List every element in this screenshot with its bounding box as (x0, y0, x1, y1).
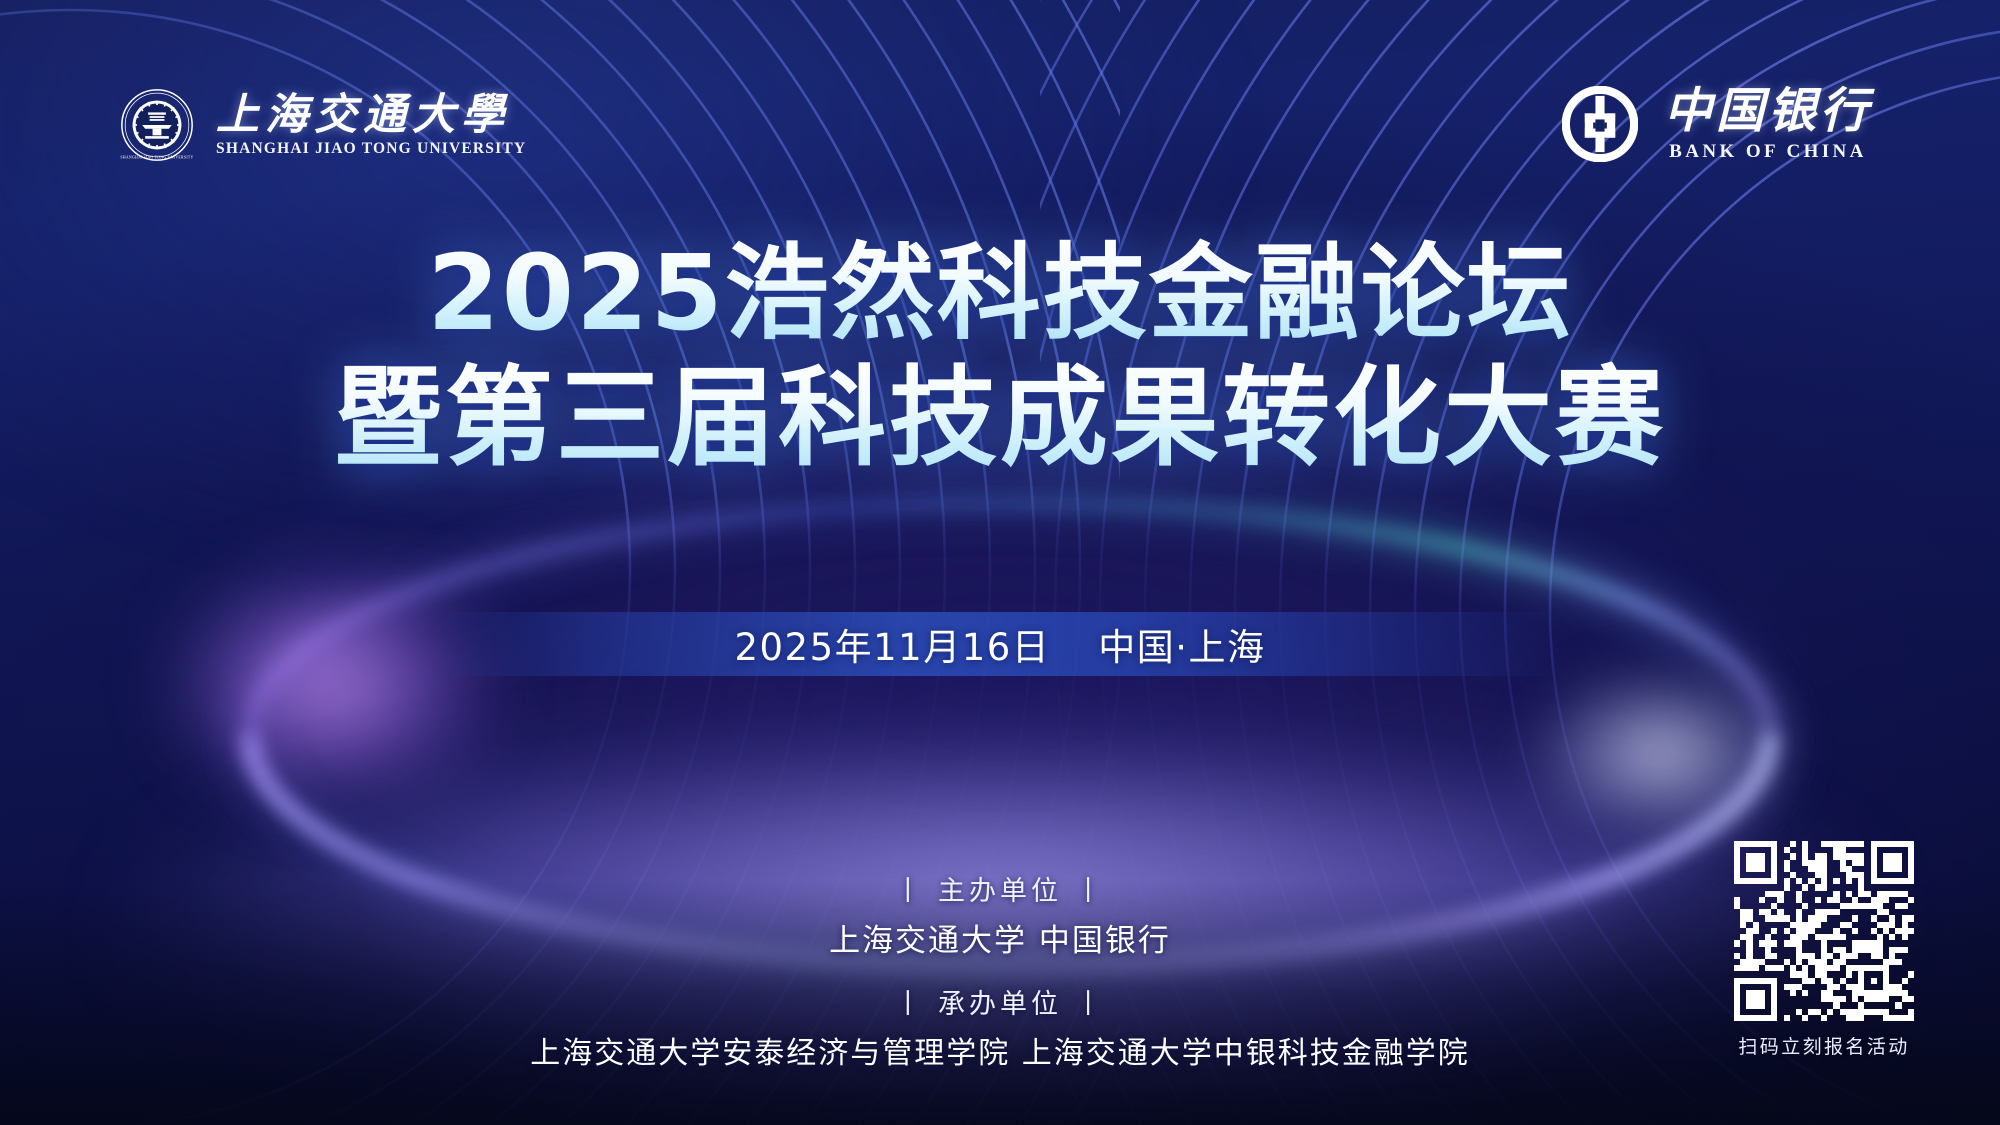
title-line-1: 2025浩然科技金融论坛 (0, 232, 2000, 355)
qr-caption: 扫码立刻报名活动 (1738, 1032, 1909, 1059)
sjtu-cn-name: 上海交通大學 (216, 94, 526, 137)
poster-title: 2025浩然科技金融论坛 暨第三届科技成果转化大赛 (0, 232, 2000, 482)
registration-qr-block[interactable]: 扫码立刻报名活动 (1734, 841, 1914, 1059)
boc-en-name: BANK OF CHINA (1669, 142, 1867, 161)
organizers-block: 丨 主办单位 丨 上海交通大学 中国银行 丨 承办单位 丨 上海交通大学安泰经济… (0, 866, 2000, 1077)
cohost-names: 上海交通大学安泰经济与管理学院 上海交通大学中银科技金融学院 (0, 1031, 2000, 1078)
event-date-location-bar: 2025年11月16日 中国·上海 (433, 612, 1567, 676)
host-label: 丨 主办单位 丨 (0, 866, 2000, 917)
bank-of-china-logo: 中国银行 BANK OF CHINA (1562, 86, 1872, 162)
sjtu-logo: SHANGHAI JIAO TONG UNIVERSITY 上海交通大學 SHA… (120, 88, 526, 162)
host-names: 上海交通大学 中国银行 (0, 917, 2000, 965)
qr-code-icon[interactable] (1734, 841, 1914, 1021)
event-date: 2025年11月16日 (734, 617, 1050, 671)
bank-of-china-mark-icon (1562, 86, 1638, 162)
sjtu-seal-icon: SHANGHAI JIAO TONG UNIVERSITY (120, 88, 194, 162)
svg-text:SHANGHAI JIAO TONG UNIVERSITY: SHANGHAI JIAO TONG UNIVERSITY (120, 155, 193, 159)
title-line-2: 暨第三届科技成果转化大赛 (0, 355, 2000, 482)
cohost-label: 丨 承办单位 丨 (0, 979, 2000, 1030)
boc-cn-name: 中国银行 (1664, 88, 1872, 136)
event-location: 中国·上海 (1098, 617, 1265, 671)
sjtu-en-name: SHANGHAI JIAO TONG UNIVERSITY (216, 141, 526, 157)
event-poster: SHANGHAI JIAO TONG UNIVERSITY 上海交通大學 SHA… (0, 0, 2000, 1125)
